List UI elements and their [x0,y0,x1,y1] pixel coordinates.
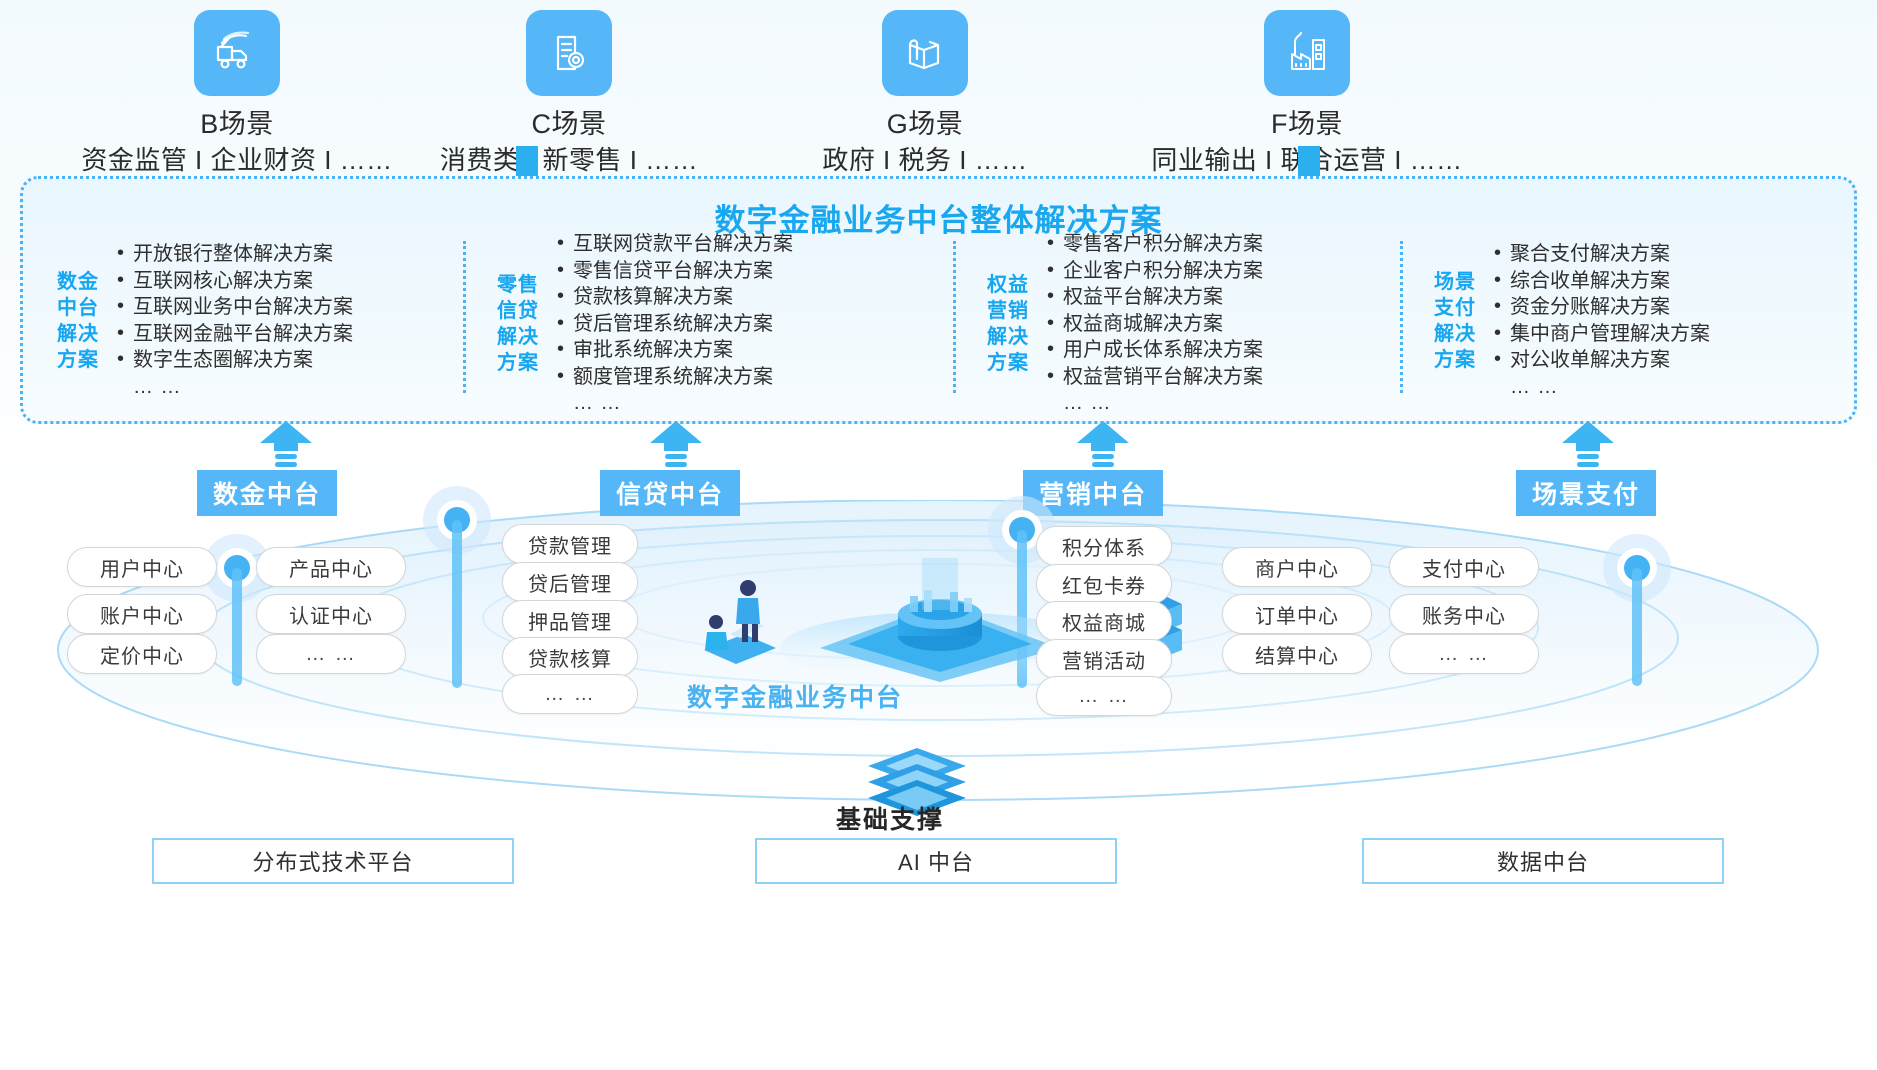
solution-item: 权益商城解决方案 [1045,311,1263,338]
solutions-panel: 数字金融业务中台整体解决方案 数金 中台 解决 方案 开放银行整体解决方案 互联… [20,176,1857,424]
up-arrow-credit [648,421,704,473]
up-arrow-shujin [258,421,314,473]
capability-pill[interactable]: 认证中心 [256,594,406,634]
solution-column-shujin: 数金 中台 解决 方案 开放银行整体解决方案 互联网核心解决方案 互联网业务中台… [51,241,353,400]
capability-pill[interactable]: 结算中心 [1222,634,1372,674]
panel-title: 数字金融业务中台整体解决方案 [23,195,1854,240]
base-box-ai-platform[interactable]: AI 中台 [755,838,1117,884]
platform-badge-shujin[interactable]: 数金中台 [197,470,337,516]
base-support-label: 基础支撑 [780,800,1000,836]
base-box-data-platform[interactable]: 数据中台 [1362,838,1724,884]
solution-list: 零售客户积分解决方案 企业客户积分解决方案 权益平台解决方案 权益商城解决方案 … [1045,231,1263,417]
platform-badge-credit[interactable]: 信贷中台 [600,470,740,516]
solution-column-tag: 权益 营销 解决 方案 [981,272,1035,376]
pin-marker-payment [1600,528,1674,688]
solution-item: 零售客户积分解决方案 [1045,231,1263,258]
solution-item: 数字生态圈解决方案 [115,347,353,374]
capability-pill[interactable]: 押品管理 [502,600,638,640]
capability-pill[interactable]: 贷款核算 [502,637,638,677]
solution-item: 资金分账解决方案 [1492,294,1710,321]
solution-item: 互联网业务中台解决方案 [115,294,353,321]
solution-column-rights-marketing: 权益 营销 解决 方案 零售客户积分解决方案 企业客户积分解决方案 权益平台解决… [981,231,1263,417]
solution-item: 审批系统解决方案 [555,337,793,364]
panel-divider-3 [1400,241,1403,393]
base-box-distributed-platform[interactable]: 分布式技术平台 [152,838,514,884]
capability-pill[interactable]: 营销活动 [1036,639,1172,679]
capability-pill[interactable]: 贷后管理 [502,562,638,602]
solution-item: 综合收单解决方案 [1492,268,1710,295]
solution-item: 贷款核算解决方案 [555,284,793,311]
capability-pill[interactable]: 红包卡券 [1036,564,1172,604]
capability-pill[interactable]: 支付中心 [1389,547,1539,587]
solution-item: 权益营销平台解决方案 [1045,364,1263,391]
up-arrow-payment [1560,421,1616,473]
platform-badge-payment[interactable]: 场景支付 [1516,470,1656,516]
capability-pill[interactable]: 产品中心 [256,547,406,587]
diagram-canvas: B场景 资金监管 I 企业财资 I …… C场景 消费类 I 新零售 I …… [0,0,1877,1070]
solution-item: 互联网核心解决方案 [115,268,353,295]
document-seal-icon [526,10,612,96]
solution-column-tag: 数金 中台 解决 方案 [51,269,105,373]
solution-item: 互联网金融平台解决方案 [115,321,353,348]
capability-pill-more[interactable]: … … [1036,676,1172,716]
solution-item: 额度管理系统解决方案 [555,364,793,391]
solution-list: 开放银行整体解决方案 互联网核心解决方案 互联网业务中台解决方案 互联网金融平台… [115,241,353,400]
truck-shipping-icon [194,10,280,96]
scenario-g: G场景 政府 I 税务 I …… [715,10,1135,178]
solution-column-tag: 零售 信贷 解决 方案 [491,272,545,376]
solution-item: 集中商户管理解决方案 [1492,321,1710,348]
up-arrow-marketing [1075,421,1131,473]
map-scroll-icon [882,10,968,96]
solution-item: 用户成长体系解决方案 [1045,337,1263,364]
solution-list: 互联网贷款平台解决方案 零售信贷平台解决方案 贷款核算解决方案 贷后管理系统解决… [555,231,793,417]
factory-icon [1264,10,1350,96]
solution-ellipsis: … … [1492,374,1710,401]
capability-pill[interactable]: 账务中心 [1389,594,1539,634]
scenario-title: F场景 [1097,106,1517,142]
capability-pill[interactable]: 权益商城 [1036,601,1172,641]
capability-pill[interactable]: 订单中心 [1222,594,1372,634]
solution-ellipsis: … … [1045,390,1263,417]
capability-pill[interactable]: 积分体系 [1036,526,1172,566]
solution-item: 聚合支付解决方案 [1492,241,1710,268]
solution-item: 贷后管理系统解决方案 [555,311,793,338]
capability-pill-more[interactable]: … … [1389,634,1539,674]
capability-pill[interactable]: 贷款管理 [502,524,638,564]
solution-item: 互联网贷款平台解决方案 [555,231,793,258]
panel-divider-2 [953,241,956,393]
center-platform-label: 数字金融业务中台 [655,678,935,714]
capability-pill-more[interactable]: … … [502,674,638,714]
scenario-subtitle: 政府 I 税务 I …… [715,142,1135,178]
capability-pill[interactable]: 商户中心 [1222,547,1372,587]
scenario-title: G场景 [715,106,1135,142]
solution-item: 开放银行整体解决方案 [115,241,353,268]
solution-item: 对公收单解决方案 [1492,347,1710,374]
solution-column-credit: 零售 信贷 解决 方案 互联网贷款平台解决方案 零售信贷平台解决方案 贷款核算解… [491,231,793,417]
solution-item: 权益平台解决方案 [1045,284,1263,311]
capability-pill[interactable]: 账户中心 [67,594,217,634]
capability-pill[interactable]: 定价中心 [67,634,217,674]
pin-marker-credit [420,480,494,690]
solution-item: 零售信贷平台解决方案 [555,258,793,285]
solution-list: 聚合支付解决方案 综合收单解决方案 资金分账解决方案 集中商户管理解决方案 对公… [1492,241,1710,400]
capability-pill[interactable]: 用户中心 [67,547,217,587]
solution-ellipsis: … … [115,374,353,401]
solution-column-payment: 场景 支付 解决 方案 聚合支付解决方案 综合收单解决方案 资金分账解决方案 集… [1428,241,1710,400]
solution-column-tag: 场景 支付 解决 方案 [1428,269,1482,373]
panel-divider-1 [463,241,466,393]
solution-item: 企业客户积分解决方案 [1045,258,1263,285]
capability-pill-more[interactable]: … … [256,634,406,674]
solution-ellipsis: … … [555,390,793,417]
